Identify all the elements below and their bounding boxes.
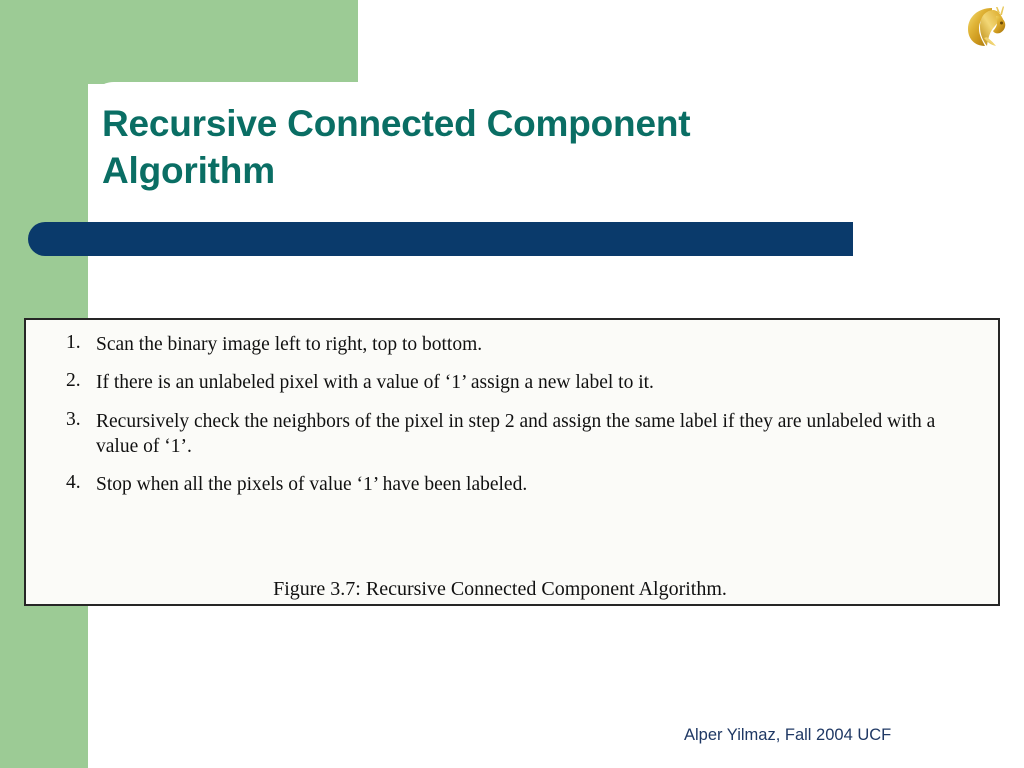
- slide-title-line-2: Algorithm: [102, 147, 902, 194]
- list-item: 2. If there is an unlabeled pixel with a…: [66, 370, 976, 395]
- slide-footer-attribution: Alper Yilmaz, Fall 2004 UCF: [684, 726, 891, 745]
- ucf-pegasus-logo: [962, 4, 1010, 50]
- step-number: 3.: [66, 409, 96, 431]
- step-text: Recursively check the neighbors of the p…: [96, 409, 976, 460]
- figure-image-box: 1. Scan the binary image left to right, …: [24, 318, 1000, 606]
- step-text: Stop when all the pixels of value ‘1’ ha…: [96, 472, 976, 497]
- slide-canvas: Recursive Connected Component Algorithm …: [0, 0, 1024, 768]
- step-number: 1.: [66, 332, 96, 354]
- list-item: 4. Stop when all the pixels of value ‘1’…: [66, 472, 976, 497]
- list-item: 3. Recursively check the neighbors of th…: [66, 409, 976, 460]
- step-number: 2.: [66, 370, 96, 392]
- green-band-top-decoration: [0, 0, 358, 84]
- slide-title-line-1: Recursive Connected Component: [102, 100, 902, 147]
- title-underline-bar: [28, 222, 853, 256]
- step-text: If there is an unlabeled pixel with a va…: [96, 370, 976, 395]
- slide-title: Recursive Connected Component Algorithm: [102, 100, 902, 195]
- algorithm-step-list: 1. Scan the binary image left to right, …: [66, 332, 976, 511]
- step-text: Scan the binary image left to right, top…: [96, 332, 976, 357]
- list-item: 1. Scan the binary image left to right, …: [66, 332, 976, 357]
- step-number: 4.: [66, 472, 96, 494]
- figure-caption: Figure 3.7: Recursive Connected Componen…: [26, 578, 998, 601]
